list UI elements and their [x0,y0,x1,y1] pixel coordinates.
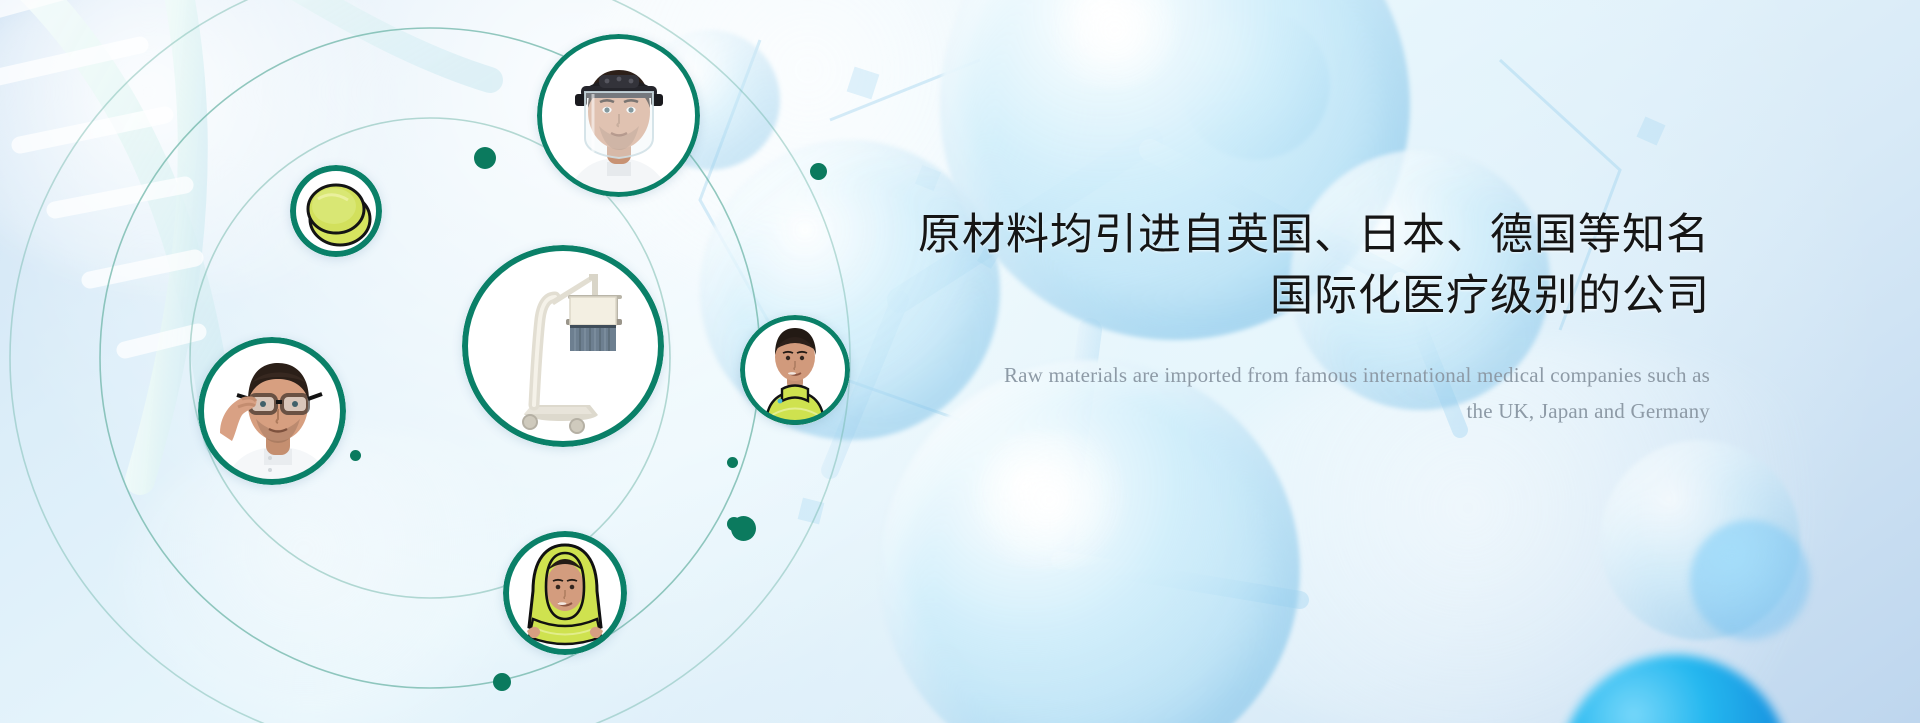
blue-sphere-small [1690,520,1810,640]
subtitle-line-1: Raw materials are imported from famous i… [1004,363,1710,387]
bubble-safety-glasses-man[interactable] [198,337,346,485]
man-wearing-lead-glasses-photo [198,337,346,485]
molecule-sphere [1180,10,1330,160]
photo-face-shield-man [537,34,700,197]
photo-collar-woman [740,315,850,425]
photo-thyroid-collar [290,165,382,257]
subtitle-line-2: the UK, Japan and Germany [880,393,1710,429]
orbit-dot [810,163,827,180]
man-wearing-face-shield-photo [537,34,700,197]
photo-mobile-xray-shield [462,245,664,447]
photo-hood-woman [503,531,627,655]
bubble-face-shield-man[interactable] [537,34,700,197]
specular-highlight [1040,0,1190,90]
mobile-x-ray-barrier-photo [462,245,664,447]
woman-wearing-lead-hood-photo [503,531,627,655]
orbit-dot [474,147,496,169]
yellow-thyroid-collar-photo [290,165,382,257]
woman-wearing-thyroid-collar-photo [740,315,850,425]
headline-line-2: 国际化医疗级别的公司 [880,266,1710,327]
photo-safety-glasses-man [198,337,346,485]
bubble-thyroid-collar[interactable] [290,165,382,257]
orbit-dot [350,450,361,461]
bubble-hood-woman[interactable] [503,531,627,655]
bubble-mobile-xray-shield[interactable] [462,245,664,447]
molecule-sphere [1600,440,1800,640]
banner-subtitle: Raw materials are imported from famous i… [880,357,1710,429]
orbit-dot [493,673,511,691]
headline-line-1: 原材料均引进自英国、日本、德国等知名 [918,211,1710,259]
page-title: 原材料均引进自英国、日本、德国等知名 国际化医疗级别的公司 [880,205,1710,327]
orbit-dot [731,516,756,541]
bubble-collar-woman[interactable] [740,315,850,425]
hero-banner: 原材料均引进自英国、日本、德国等知名 国际化医疗级别的公司 Raw materi… [0,0,1920,723]
blue-sphere-accent [1560,655,1790,723]
orbit-dot [727,457,738,468]
banner-copy: 原材料均引进自英国、日本、德国等知名 国际化医疗级别的公司 Raw materi… [880,205,1710,429]
